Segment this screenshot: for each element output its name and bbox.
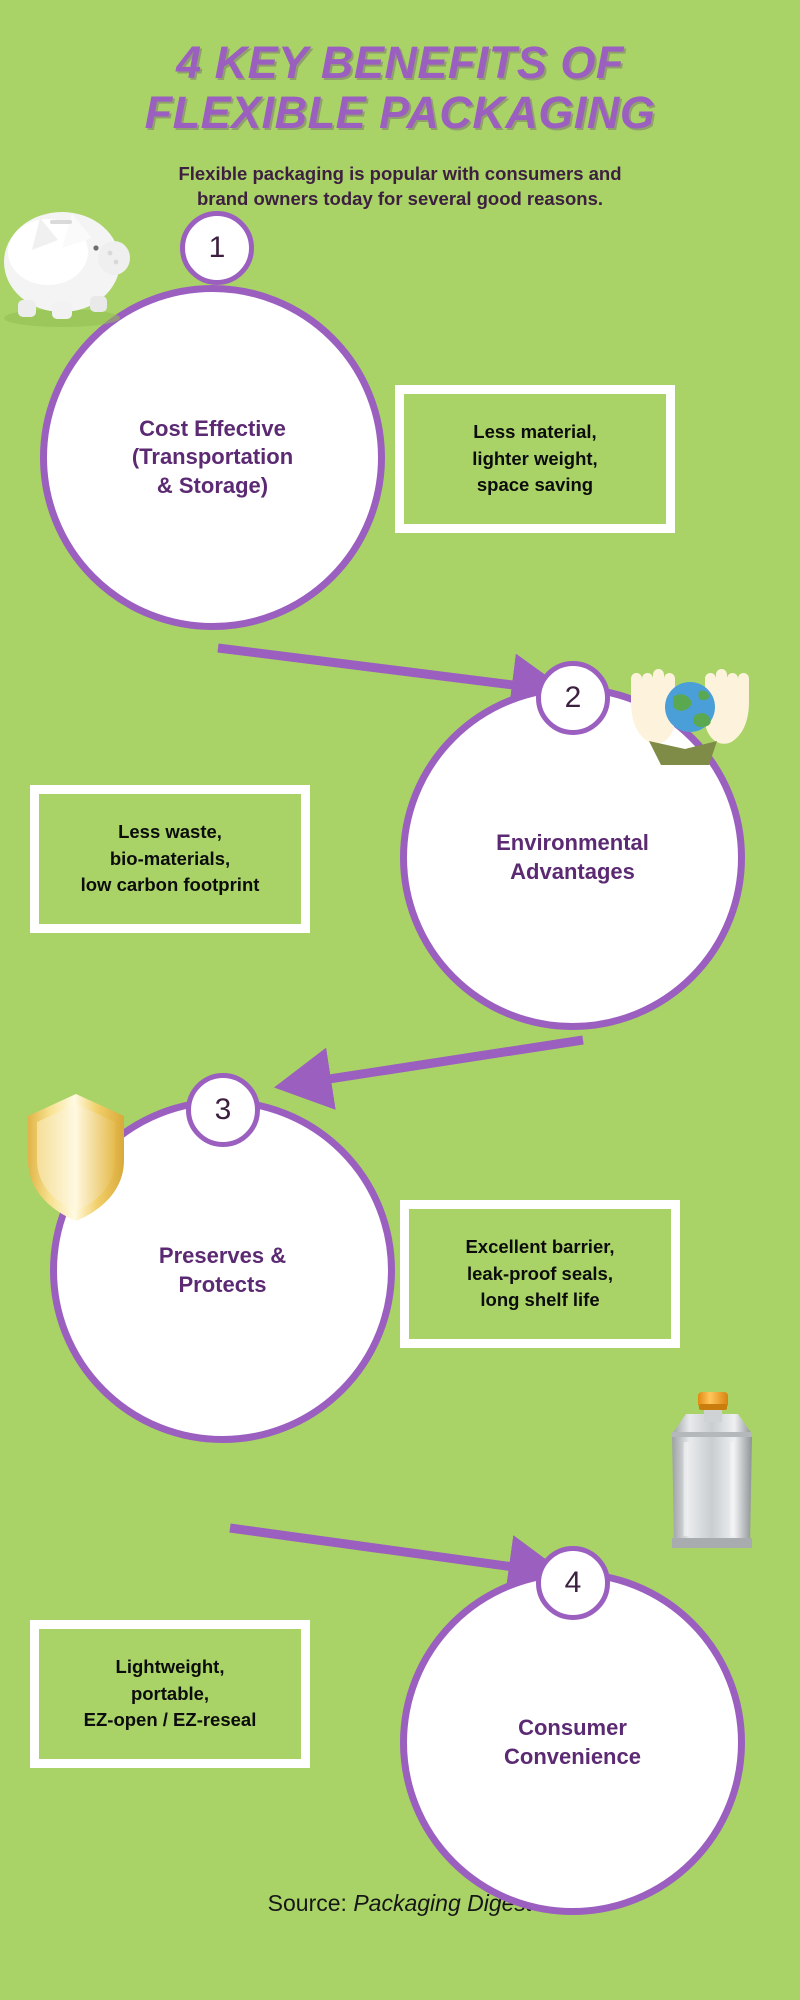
flexible-pouch-icon	[652, 1390, 772, 1555]
infographic-canvas: 4 KEY BENEFITS OF FLEXIBLE PACKAGING Fle…	[0, 0, 800, 2000]
gold-shield-icon	[22, 1090, 130, 1225]
benefit-detail-3-line-2: leak-proof seals,	[465, 1261, 614, 1288]
piggy-bank-icon	[0, 196, 136, 331]
benefit-detail-4-line-2: portable,	[84, 1681, 257, 1708]
benefit-detail-1-line-2: lighter weight,	[472, 446, 597, 473]
benefit-callout-3: Excellent barrier, leak-proof seals, lon…	[400, 1200, 680, 1348]
benefit-title-1-line-2: (Transportation	[132, 443, 293, 471]
benefit-detail-1: Less material, lighter weight, space sav…	[472, 419, 597, 499]
benefit-detail-3-line-3: long shelf life	[465, 1287, 614, 1314]
benefit-title-1-line-3: & Storage)	[132, 472, 293, 500]
benefit-title-4: Consumer Convenience	[488, 1714, 657, 1770]
benefit-detail-2-line-1: Less waste,	[81, 819, 260, 846]
benefit-title-3: Preserves & Protects	[143, 1242, 302, 1298]
arrow-2-to-3	[290, 1040, 583, 1085]
benefit-number-4: 4	[565, 1566, 582, 1600]
benefit-number-badge-3: 3	[186, 1073, 260, 1147]
arrow-1-to-2	[218, 648, 553, 690]
benefit-detail-2: Less waste, bio-materials, low carbon fo…	[81, 819, 260, 899]
benefit-detail-3: Excellent barrier, leak-proof seals, lon…	[465, 1234, 614, 1314]
benefit-number-badge-1: 1	[180, 211, 254, 285]
benefit-title-2: Environmental Advantages	[480, 829, 665, 885]
benefit-detail-1-line-3: space saving	[472, 472, 597, 499]
benefit-detail-4-line-1: Lightweight,	[84, 1654, 257, 1681]
benefit-title-3-line-1: Preserves &	[159, 1242, 286, 1270]
benefit-detail-4: Lightweight, portable, EZ-open / EZ-rese…	[84, 1654, 257, 1734]
benefit-title-1-line-1: Cost Effective	[132, 415, 293, 443]
benefit-callout-2: Less waste, bio-materials, low carbon fo…	[30, 785, 310, 933]
benefit-number-badge-2: 2	[536, 661, 610, 735]
benefit-number-badge-4: 4	[536, 1546, 610, 1620]
benefit-number-3: 3	[215, 1093, 232, 1127]
hands-holding-earth-icon	[625, 645, 755, 770]
benefit-title-3-line-2: Protects	[159, 1271, 286, 1299]
benefit-detail-2-line-2: bio-materials,	[81, 846, 260, 873]
benefit-detail-4-line-3: EZ-open / EZ-reseal	[84, 1707, 257, 1734]
benefit-detail-2-line-3: low carbon footprint	[81, 872, 260, 899]
benefit-title-2-line-1: Environmental	[496, 829, 649, 857]
benefit-circle-1[interactable]: Cost Effective (Transportation & Storage…	[40, 285, 385, 630]
benefit-detail-3-line-1: Excellent barrier,	[465, 1234, 614, 1261]
benefit-callout-1: Less material, lighter weight, space sav…	[395, 385, 675, 533]
benefit-circle-4[interactable]: Consumer Convenience	[400, 1570, 745, 1915]
benefit-number-1: 1	[209, 231, 226, 265]
benefit-number-2: 2	[565, 681, 582, 715]
benefit-title-4-line-1: Consumer	[504, 1714, 641, 1742]
arrow-3-to-4	[230, 1528, 550, 1572]
benefit-title-4-line-2: Convenience	[504, 1743, 641, 1771]
benefit-title-2-line-2: Advantages	[496, 858, 649, 886]
benefit-callout-4: Lightweight, portable, EZ-open / EZ-rese…	[30, 1620, 310, 1768]
benefit-detail-1-line-1: Less material,	[472, 419, 597, 446]
benefit-title-1: Cost Effective (Transportation & Storage…	[116, 415, 309, 499]
